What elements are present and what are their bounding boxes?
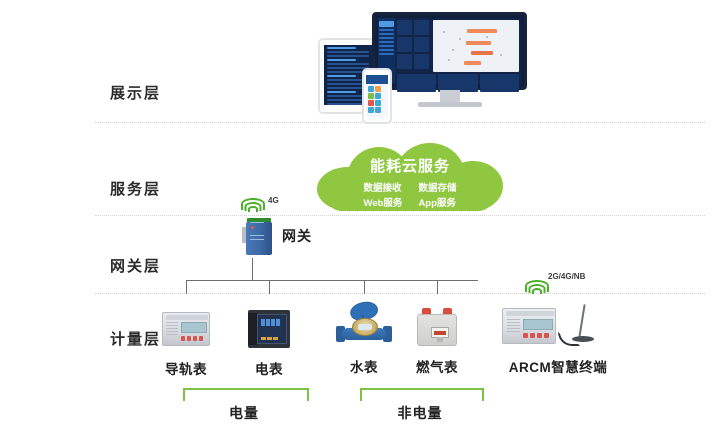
meter-label-din-rail: 导轨表 — [140, 358, 232, 378]
meter-label-electricity: 电表 — [223, 358, 315, 378]
cloud-item-3: App服务 — [418, 195, 456, 209]
group-bracket-electrical — [183, 388, 309, 401]
connector-branch-2 — [269, 280, 270, 294]
cloud-text-block: 能耗云服务 数据接收 数据存储 Web服务 App服务 — [317, 143, 503, 211]
cloud-title: 能耗云服务 — [370, 155, 450, 176]
monitor-map-panel — [433, 20, 519, 72]
gas-meter-icon — [391, 304, 483, 352]
meter-label-arcm: ARCM智慧终端 — [488, 356, 628, 376]
connector-bus — [186, 280, 478, 281]
arcm-network-label: 2G/4G/NB — [548, 272, 585, 281]
cloud-item-1: 数据存储 — [418, 180, 456, 194]
layer-separator-2 — [95, 215, 705, 216]
arcm-terminal-icon: 2G/4G/NB — [488, 302, 628, 352]
group-label-electrical: 电量 — [183, 403, 305, 423]
meter-item-electricity: 电表 — [223, 306, 315, 378]
gateway-label: 网关 — [282, 226, 312, 246]
layer-label-display: 展示层 — [110, 82, 200, 103]
group-bracket-non-electrical — [360, 388, 484, 401]
smartphone-screen — [366, 75, 388, 117]
display-layer-devices — [300, 10, 550, 118]
gateway-device-icon — [242, 218, 276, 256]
monitor-device-icon — [372, 12, 527, 90]
architecture-diagram: 展示层 服务层 网关层 计量层 — [0, 0, 715, 443]
din-rail-meter-icon — [140, 306, 232, 354]
monitor-screen — [378, 18, 521, 84]
meter-label-gas: 燃气表 — [391, 356, 483, 376]
arcm-wifi-signal-icon — [526, 280, 548, 296]
connector-branch-3 — [364, 280, 365, 294]
cloud-service-node: 能耗云服务 数据接收 数据存储 Web服务 App服务 — [317, 143, 503, 211]
layer-label-gateway: 网关层 — [110, 255, 200, 276]
cloud-item-0: 数据接收 — [364, 180, 403, 194]
meter-item-gas: 燃气表 — [391, 304, 483, 376]
monitor-stand-neck — [440, 90, 460, 102]
antenna-base — [572, 336, 594, 342]
cloud-service-items: 数据接收 数据存储 Web服务 App服务 — [364, 180, 457, 209]
meter-item-arcm-terminal: 2G/4G/NB ARCM智慧终端 — [488, 302, 628, 376]
monitor-stand-base — [418, 102, 482, 107]
connector-branch-4 — [437, 280, 438, 294]
connector-branch-1 — [186, 280, 187, 294]
connector-trunk — [252, 258, 253, 280]
wifi-signal-icon — [242, 198, 264, 214]
monitor-dashboard-main — [395, 18, 521, 84]
smartphone-device-icon — [362, 68, 392, 124]
antenna-rod-icon — [578, 304, 585, 338]
meter-item-din-rail: 导轨表 — [140, 306, 232, 378]
panel-electricity-meter-icon — [223, 306, 315, 354]
monitor-stat-cards — [397, 20, 431, 72]
layer-separator-1 — [95, 122, 705, 123]
layer-label-service: 服务层 — [110, 178, 200, 199]
group-label-non-electrical: 非电量 — [360, 403, 480, 423]
cloud-item-2: Web服务 — [364, 195, 403, 209]
gateway-network-label: 4G — [268, 196, 279, 205]
